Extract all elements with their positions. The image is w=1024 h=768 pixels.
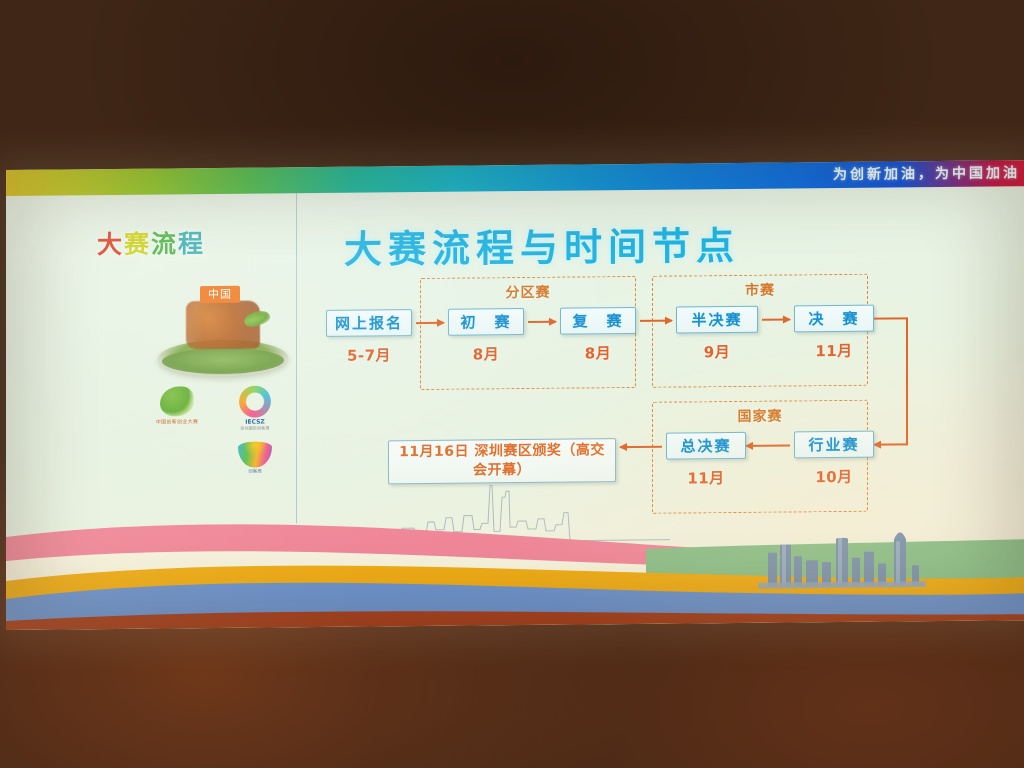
group-national-label: 国家赛 [653, 405, 867, 427]
step-rematch[interactable]: 复 赛 [560, 307, 636, 335]
logo-b-subcaption: 深圳国际创客周 [224, 425, 286, 432]
sidebar-section-title: 大赛流程 [6, 223, 296, 262]
step-grand-final-month: 11月 [666, 467, 746, 489]
step-preliminary-month: 8月 [448, 343, 524, 365]
arrow-industry-to-grandfinal [746, 444, 790, 446]
sidebar-title-char-1: 大 [97, 230, 124, 259]
competition-emblem: 中国 [158, 283, 288, 376]
arrow-2 [528, 321, 556, 323]
city-skyline-silhouette [752, 525, 932, 589]
iecsz-logo: IECSZ 深圳国际创客周 [224, 385, 286, 438]
arrow-1 [416, 322, 444, 324]
leaf-c-icon [160, 386, 194, 416]
sidebar-divider [296, 193, 297, 523]
step-final[interactable]: 决 赛 [794, 305, 874, 333]
projected-slide: 为创新加油，为中国加油 大赛流程 中国 中国创新创业大赛 [6, 160, 1024, 630]
arrow-4 [762, 318, 790, 320]
step-industry-competition-month: 10月 [794, 466, 874, 488]
logo-a-caption: 中国创新创业大赛 [146, 418, 208, 426]
maker-week-logo: 创客周 [224, 441, 286, 482]
connector-final-right [874, 317, 908, 319]
logo-c-caption: 创客周 [224, 468, 286, 475]
group-regional-label: 分区赛 [421, 281, 635, 303]
arrow-grandfinal-to-award [620, 446, 662, 448]
sidebar-title-char-4: 程 [178, 229, 205, 258]
step-semifinal-month: 9月 [676, 341, 758, 363]
step-preliminary[interactable]: 初 赛 [448, 308, 524, 336]
connector-final-to-industry [874, 443, 908, 445]
step-final-month: 11月 [794, 340, 874, 362]
swirl-ring-icon [239, 385, 271, 417]
partner-logos: 中国创新创业大赛 IECSZ 深圳国际创客周 创客周 [146, 385, 296, 478]
connector-final-down [906, 317, 908, 445]
step-rematch-month: 8月 [560, 342, 636, 364]
step-semifinal[interactable]: 半决赛 [676, 306, 758, 334]
banner-slogan: 为创新加油，为中国加油 [833, 162, 1020, 184]
step-online-registration[interactable]: 网上报名 [326, 309, 412, 337]
group-city-label: 市赛 [653, 279, 867, 301]
step-online-registration-month: 5-7月 [326, 344, 412, 366]
arrow-3 [640, 320, 672, 322]
emblem-badge: 中国 [200, 286, 240, 303]
step-grand-final[interactable]: 总决赛 [666, 432, 746, 460]
step-industry-competition[interactable]: 行业赛 [794, 431, 874, 459]
award-ceremony-box[interactable]: 11月16日 深圳赛区颁奖（高交会开幕） [388, 438, 616, 484]
page-title: 大赛流程与时间节点 [344, 215, 740, 274]
china-innovation-competition-logo: 中国创新创业大赛 [146, 386, 208, 437]
colorful-fan-icon [238, 441, 272, 467]
sidebar-title-char-2: 赛 [124, 230, 151, 259]
sidebar-title-char-3: 流 [151, 229, 178, 258]
